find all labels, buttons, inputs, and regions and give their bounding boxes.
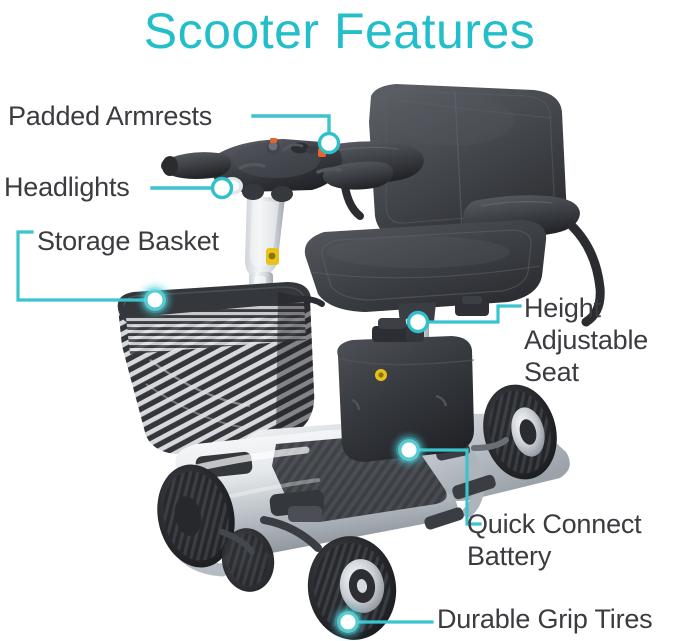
seat-cushion — [305, 220, 546, 312]
callout-label-height-adjustable-seat: Height Adjustable Seat — [524, 292, 648, 388]
scooter-features-infographic: Scooter Features — [0, 0, 679, 641]
callout-label-durable-grip-tires: Durable Grip Tires — [437, 603, 652, 635]
callout-label-padded-armrests: Padded Armrests — [8, 100, 212, 132]
callout-label-quick-connect-battery: Quick Connect Battery — [467, 508, 641, 572]
headlight — [221, 177, 243, 195]
quick-connect-battery — [337, 318, 474, 462]
callout-label-headlights: Headlights — [4, 171, 130, 203]
callout-label-storage-basket: Storage Basket — [37, 225, 219, 257]
